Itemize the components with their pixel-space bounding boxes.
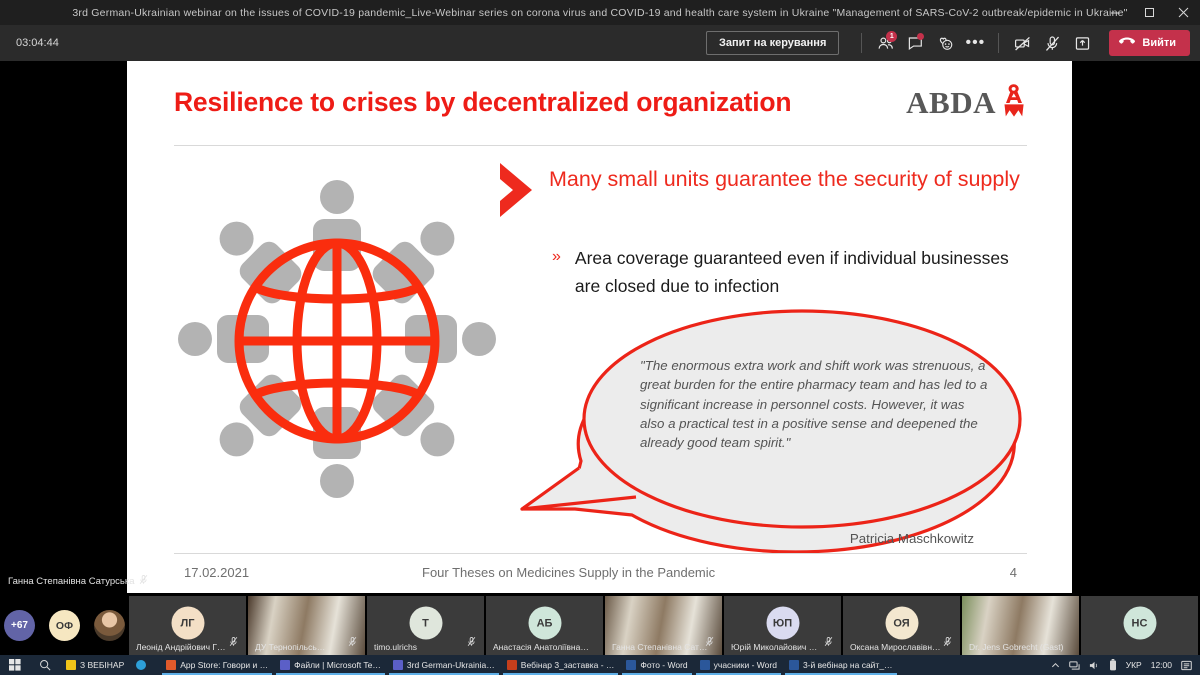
teams-meeting-window: 3rd German-Ukrainian webinar on the issu…	[0, 0, 1200, 675]
teams-icon	[393, 660, 403, 670]
toolbar-divider-2	[998, 33, 999, 53]
windows-start-icon[interactable]	[0, 659, 30, 671]
app-icon	[166, 660, 176, 670]
meeting-timer: 03:04:44	[16, 37, 59, 49]
mic-muted-icon	[229, 634, 238, 652]
footer-divider	[174, 553, 1027, 554]
people-icon[interactable]: 1	[870, 29, 900, 57]
sub-bullet-text: Area coverage guaranteed even if individ…	[575, 244, 1012, 301]
taskbar-item[interactable]: Файли | Microsoft Te…	[274, 655, 387, 675]
word-icon	[626, 660, 636, 670]
maximize-icon[interactable]	[1132, 0, 1166, 25]
quote-author: Patricia Maschkowitz	[640, 531, 992, 546]
roster-avatar[interactable]	[94, 610, 125, 641]
slide-title: Resilience to crises by decentralized or…	[174, 87, 791, 118]
participant-tile[interactable]: НС	[1081, 596, 1198, 655]
abda-logo: ABDA	[906, 83, 1027, 122]
participant-initials-avatar: Т	[409, 607, 442, 640]
reactions-icon[interactable]	[930, 29, 960, 57]
taskbar-item-label: З ВЕБІНАР	[80, 660, 124, 670]
taskbar-item[interactable]: З ВЕБІНАР	[60, 655, 130, 675]
participant-tile[interactable]: ЛГЛеонід Андрійович Г…	[129, 596, 246, 655]
meeting-toolbar: 03:04:44 Запит на керування 1	[0, 25, 1200, 61]
presenter-name-label: Ганна Степанівна Сатурська	[8, 574, 148, 588]
system-tray: УКР 12:00	[1051, 659, 1200, 671]
roster-avatar[interactable]: ОФ	[49, 610, 80, 641]
slide-page-number: 4	[1010, 565, 1017, 580]
taskbar-item[interactable]: 3rd German-Ukrainia…	[387, 655, 501, 675]
toolbar-divider	[861, 33, 862, 53]
slide-footer-title: Four Theses on Medicines Supply in the P…	[422, 565, 715, 580]
quote-speech-bubble: "The enormous extra work and shift work …	[512, 301, 1052, 561]
leave-meeting-button[interactable]: Вийти	[1109, 30, 1190, 56]
participant-tile[interactable]: ДУ Тернопільсь…	[248, 596, 365, 655]
request-control-button[interactable]: Запит на керування	[706, 31, 839, 55]
volume-icon[interactable]	[1089, 660, 1100, 671]
quote-text: "The enormous extra work and shift work …	[640, 356, 992, 453]
chevron-up-icon[interactable]	[1051, 661, 1060, 670]
windows-taskbar: З ВЕБІНАРApp Store: Говори и …Файли | Mi…	[0, 655, 1200, 675]
network-icon[interactable]	[1069, 660, 1080, 671]
roster-overflow-count[interactable]: +67	[4, 610, 35, 641]
taskbar-item-label: Вебінар 3_заставка - …	[521, 660, 615, 670]
taskbar-item[interactable]: Вебінар 3_заставка - …	[501, 655, 621, 675]
shared-slide[interactable]: Resilience to crises by decentralized or…	[127, 61, 1072, 593]
taskbar-item[interactable]: 3-й вебінар на сайт_…	[783, 655, 899, 675]
close-icon[interactable]	[1166, 0, 1200, 25]
mic-muted-icon	[467, 634, 476, 652]
leave-label: Вийти	[1142, 37, 1176, 49]
presenter-name-text: Ганна Степанівна Сатурська	[8, 576, 134, 587]
more-options-icon[interactable]: •••	[960, 29, 990, 57]
participant-initials-avatar: ОЯ	[885, 607, 918, 640]
participant-name: timo.ulrichs	[374, 642, 417, 652]
powerpoint-icon	[507, 660, 517, 670]
share-screen-icon[interactable]	[1067, 29, 1097, 57]
taskbar-item-label: Фото - Word	[640, 660, 687, 670]
taskbar-item-label: учасники - Word	[714, 660, 777, 670]
word-icon	[700, 660, 710, 670]
people-badge: 1	[886, 31, 897, 42]
mic-muted-icon	[705, 634, 714, 652]
mic-muted-icon	[943, 634, 952, 652]
participant-tile[interactable]: ЮПЮрій Миколайович …	[724, 596, 841, 655]
mic-muted-icon	[348, 634, 357, 652]
participant-tile[interactable]: Ганна Степанівна Сат…	[605, 596, 722, 655]
taskbar-clock[interactable]: 12:00	[1151, 660, 1172, 670]
participant-initials-avatar: НС	[1123, 607, 1156, 640]
window-controls	[1098, 0, 1200, 25]
taskbar-item-label: Файли | Microsoft Te…	[294, 660, 381, 670]
participant-name: Dr. Jens Gobrecht (Gast)	[969, 642, 1063, 652]
participant-tile[interactable]: Тtimo.ulrichs	[367, 596, 484, 655]
search-icon[interactable]	[30, 659, 60, 671]
taskbar-item[interactable]	[130, 655, 160, 675]
taskbar-items: З ВЕБІНАРApp Store: Говори и …Файли | Mi…	[60, 655, 899, 675]
meeting-stage: Ганна Степанівна Сатурська Resilience to…	[0, 61, 1200, 596]
participant-name: ДУ Тернопільсь…	[255, 642, 325, 652]
participant-name: Оксана Мирославівн…	[850, 642, 941, 652]
mic-muted-icon	[139, 574, 148, 588]
mic-muted-icon	[824, 634, 833, 652]
participant-name: Ганна Степанівна Сат…	[612, 642, 707, 652]
taskbar-item-label: 3-й вебінар на сайт_…	[803, 660, 893, 670]
participant-initials-avatar: АБ	[528, 607, 561, 640]
participant-name: Леонід Андрійович Г…	[136, 642, 226, 652]
globe-with-people-icon	[172, 159, 502, 519]
slide-lead-bullet: Many small units guarantee the security …	[549, 161, 1041, 198]
chat-icon[interactable]	[900, 29, 930, 57]
word-icon	[789, 660, 799, 670]
hangup-icon	[1119, 36, 1135, 50]
mic-off-icon[interactable]	[1037, 29, 1067, 57]
taskbar-item[interactable]: учасники - Word	[694, 655, 783, 675]
taskbar-item-label: App Store: Говори и …	[180, 660, 268, 670]
window-title: 3rd German-Ukrainian webinar on the issu…	[72, 7, 1127, 19]
participant-tiles: ЛГЛеонід Андрійович Г…ДУ Тернопільсь…Тti…	[129, 596, 1200, 655]
teams-icon	[280, 660, 290, 670]
participant-name: Юрій Миколайович …	[731, 642, 817, 652]
taskbar-item[interactable]: App Store: Говори и …	[160, 655, 274, 675]
taskbar-item-label: 3rd German-Ukrainia…	[407, 660, 495, 670]
participant-name: Анастасія Анатоліївна Бог…	[493, 642, 589, 652]
folder-icon	[66, 660, 76, 670]
taskbar-item[interactable]: Фото - Word	[620, 655, 693, 675]
abda-logo-text: ABDA	[906, 85, 996, 121]
participant-filmstrip: +67ОФ ЛГЛеонід Андрійович Г…ДУ Тернопіль…	[0, 596, 1200, 655]
window-title-bar: 3rd German-Ukrainian webinar on the issu…	[0, 0, 1200, 25]
participant-tile[interactable]: ОЯОксана Мирославівн…	[843, 596, 960, 655]
camera-off-icon[interactable]	[1007, 29, 1037, 57]
participant-tile[interactable]: АБАнастасія Анатоліївна Бог…	[486, 596, 603, 655]
abda-pharmacy-a-icon	[1001, 83, 1027, 122]
participant-tile[interactable]: Dr. Jens Gobrecht (Gast)	[962, 596, 1079, 655]
slide-sub-bullet: » Area coverage guaranteed even if indiv…	[552, 244, 1012, 301]
battery-icon[interactable]	[1109, 659, 1117, 671]
taskbar-language[interactable]: УКР	[1126, 660, 1142, 670]
title-divider	[174, 145, 1027, 146]
participant-initials-avatar: ЮП	[766, 607, 799, 640]
chevron-right-icon	[496, 161, 538, 219]
sub-bullet-marker: »	[552, 244, 561, 301]
edge-icon	[136, 660, 146, 670]
participant-initials-avatar: ЛГ	[171, 607, 204, 640]
slide-footer-date: 17.02.2021	[184, 565, 249, 580]
roster-avatars[interactable]: +67ОФ	[0, 596, 129, 655]
minimize-icon[interactable]	[1098, 0, 1132, 25]
notifications-icon[interactable]	[1181, 660, 1192, 671]
